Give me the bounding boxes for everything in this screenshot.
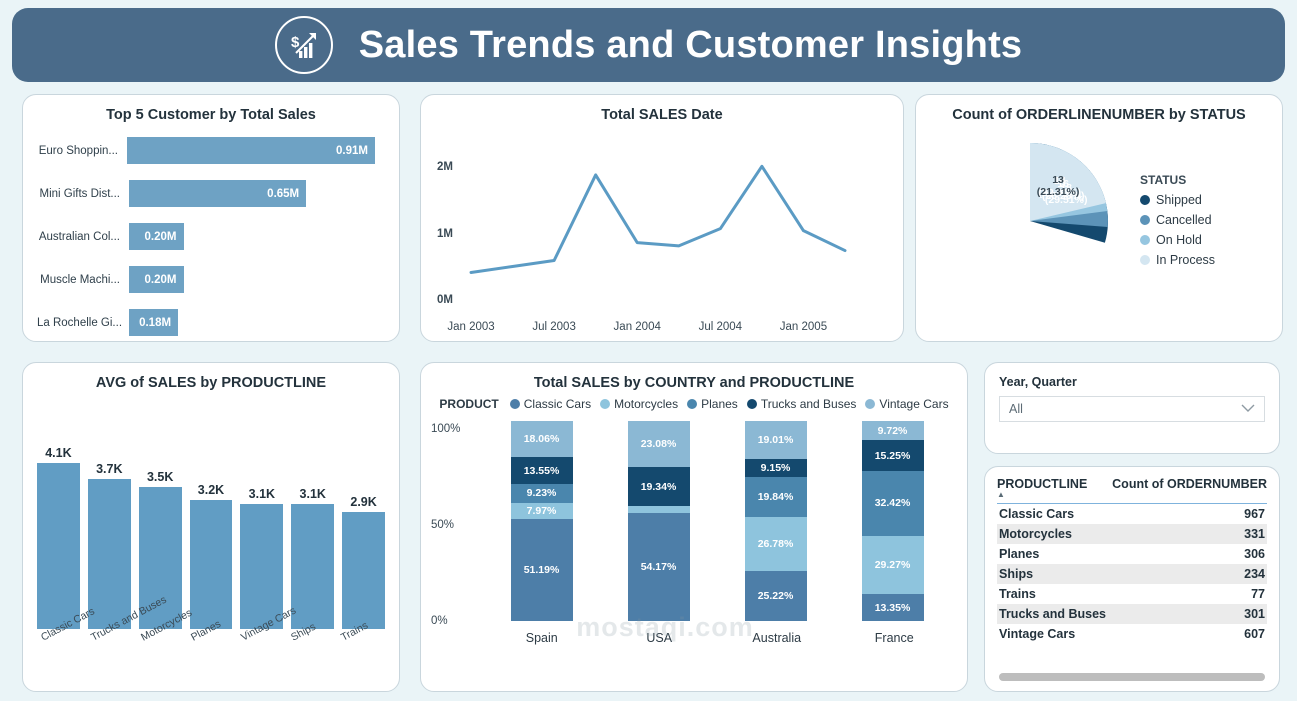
country-stacked-bar[interactable]: 18.06%13.55%9.23%7.97%51.19% [511,421,573,621]
legend-item[interactable]: On Hold [1140,233,1215,247]
table-row[interactable]: Ships234 [997,564,1267,584]
customer-name-label: Australian Col... [37,231,129,243]
svg-text:$: $ [291,34,300,51]
productline-bar-column[interactable]: 3.2K [190,407,233,629]
avg-sales-bar-chart: 4.1K3.7K3.5K3.2K3.1K3.1K2.9K [37,407,385,629]
top-customers-bar-list: Euro Shoppin...0.91MMini Gifts Dist...0.… [23,123,399,336]
pie-slice-label: 13(21.31%) [1037,173,1080,197]
bar-rect[interactable] [88,479,131,629]
table-row[interactable]: Planes306 [997,544,1267,564]
chevron-down-icon[interactable] [1241,400,1255,418]
status-pie-title: Count of ORDERLINENUMBER by STATUS [916,95,1282,123]
y-axis-tick: 100% [431,423,460,435]
country-label: USA [646,631,672,645]
table-row[interactable]: Motorcycles331 [997,524,1267,544]
bar-rect[interactable] [37,463,80,629]
legend-color-dot [687,399,697,409]
country-label: France [875,631,914,645]
stack-segment[interactable]: 25.22% [745,571,807,621]
cell-count: 77 [1251,587,1265,601]
legend-label: Vintage Cars [879,397,948,411]
page-title: Sales Trends and Customer Insights [359,24,1023,67]
legend-color-dot [865,399,875,409]
status-pie-area: 18(29.51%)16(26.23%)14(22.95%)13(21.31%)… [916,123,1282,313]
cell-count: 234 [1244,567,1265,581]
legend-item[interactable]: Motorcycles [600,397,678,411]
productline-table: PRODUCTLINE ▲ Count of ORDERNUMBER Class… [985,467,1279,644]
dashboard-page: $ Sales Trends and Customer Insights Top… [0,0,1297,701]
customer-name-label: Euro Shoppin... [37,145,127,157]
legend-label: Classic Cars [524,397,591,411]
top-customers-card: Top 5 Customer by Total Sales Euro Shopp… [22,94,400,342]
stack-segment[interactable]: 9.15% [745,459,807,477]
cell-productline: Motorcycles [999,527,1072,541]
country-stacked-bar[interactable]: 23.08%19.34%54.17% [628,421,690,621]
productline-table-card: PRODUCTLINE ▲ Count of ORDERNUMBER Class… [984,466,1280,692]
stack-segment[interactable]: 54.17% [628,513,690,621]
bar-rect[interactable] [342,512,385,629]
productline-bar-column[interactable]: 2.9K [342,407,385,629]
customer-bar[interactable]: 0.18M [129,309,178,336]
customer-bar-row[interactable]: Mini Gifts Dist...0.65M [37,180,375,207]
y-axis-tick: 50% [431,519,454,531]
country-stacked-bar[interactable]: 19.01%9.15%19.84%26.78%25.22% [745,421,807,621]
top-customers-title: Top 5 Customer by Total Sales [23,95,399,123]
pie-chart: 18(29.51%)16(26.23%)14(22.95%)13(21.31%) [930,133,1130,313]
x-axis-tick: Jan 2003 [447,321,494,333]
customer-bar[interactable]: 0.20M [129,266,184,293]
legend-item[interactable]: Classic Cars [510,397,591,411]
x-axis-tick: Jul 2004 [699,321,742,333]
column-header-count[interactable]: Count of ORDERNUMBER [1112,477,1267,491]
productline-bar-column[interactable]: 3.1K [291,407,334,629]
avg-sales-category-axis: Classic CarsTrucks and BusesMotorcyclesP… [37,629,385,699]
avg-sales-title: AVG of SALES by PRODUCTLINE [23,363,399,391]
stack-segment[interactable]: 15.25% [862,440,924,471]
cell-count: 331 [1244,527,1265,541]
bar-value-label: 2.9K [350,495,376,509]
legend-color-dot [747,399,757,409]
stack-segment[interactable]: 32.42% [862,471,924,536]
customer-bar[interactable]: 0.20M [129,223,184,250]
bar-value-label: 0.65M [267,188,299,200]
country-label: Spain [526,631,558,645]
cell-count: 301 [1244,607,1265,621]
legend-label: On Hold [1156,233,1202,247]
legend-color-dot [1140,195,1150,205]
bar-track: 0.18M [129,309,375,336]
cell-productline: Classic Cars [999,507,1074,521]
status-legend: STATUS ShippedCancelledOn HoldIn Process [1140,173,1215,273]
stack-segment[interactable]: 19.01% [745,421,807,459]
stack-segment[interactable]: 29.27% [862,536,924,595]
table-row[interactable]: Classic Cars967 [997,504,1267,524]
year-quarter-slicer-card: Year, Quarter All [984,362,1280,454]
stack-segment[interactable]: 19.84% [745,477,807,517]
bar-value-label: 3.1K [300,487,326,501]
stack-segment[interactable]: 23.08% [628,421,690,467]
legend-item[interactable]: Planes [687,397,738,411]
legend-label: Shipped [1156,193,1202,207]
country-stacked-bar[interactable]: 9.72%15.25%32.42%29.27%13.35% [862,421,924,621]
cell-count: 306 [1244,547,1265,561]
bar-value-label: 0.20M [145,231,177,243]
table-horizontal-scrollbar[interactable] [999,673,1265,681]
bar-value-label: 3.5K [147,470,173,484]
table-header-row: PRODUCTLINE ▲ Count of ORDERNUMBER [997,477,1267,498]
country-productline-stacked-chart: 0%50%100%18.06%13.55%9.23%7.97%51.19%23.… [431,421,957,649]
legend-label: In Process [1156,253,1215,267]
stack-segment[interactable]: 13.55% [511,457,573,484]
stack-segment[interactable]: 19.34% [628,467,690,506]
country-productline-title: Total SALES by COUNTRY and PRODUCTLINE [421,363,967,391]
customer-bar-row[interactable]: La Rochelle Gi...0.18M [37,309,375,336]
bar-rect[interactable] [291,504,334,629]
productline-bar-column[interactable]: 4.1K [37,407,80,629]
dashboard-header: $ Sales Trends and Customer Insights [12,8,1285,82]
legend-label: Planes [701,397,738,411]
bar-value-label: 4.1K [45,446,71,460]
customer-bar[interactable]: 0.91M [127,137,375,164]
customer-bar-row[interactable]: Australian Col...0.20M [37,223,375,250]
productline-bar-column[interactable]: 3.1K [240,407,283,629]
bar-value-label: 3.1K [249,487,275,501]
stack-segment[interactable]: 9.72% [862,421,924,440]
country-label: Australia [752,631,801,645]
customer-name-label: La Rochelle Gi... [37,317,129,329]
stack-segment[interactable] [628,506,690,513]
legend-color-dot [510,399,520,409]
cell-productline: Trucks and Buses [999,607,1106,621]
cell-count: 607 [1244,627,1265,641]
cell-count: 967 [1244,507,1265,521]
legend-label: Trucks and Buses [761,397,857,411]
bar-rect[interactable] [190,500,233,629]
year-quarter-dropdown[interactable]: All [999,396,1265,422]
sales-date-title: Total SALES Date [421,95,903,123]
bar-value-label: 0.20M [145,274,177,286]
slicer-label: Year, Quarter [985,363,1279,396]
table-row[interactable]: Vintage Cars607 [997,624,1267,644]
legend-item[interactable]: In Process [1140,253,1215,267]
country-productline-card: Total SALES by COUNTRY and PRODUCTLINE P… [420,362,968,692]
legend-item[interactable]: Vintage Cars [865,397,948,411]
table-row[interactable]: Trains77 [997,584,1267,604]
legend-color-dot [1140,215,1150,225]
legend-label: Motorcycles [614,397,678,411]
customer-bar[interactable]: 0.65M [129,180,306,207]
x-axis-tick: Jan 2004 [614,321,661,333]
status-pie-card: Count of ORDERLINENUMBER by STATUS 18(29… [915,94,1283,342]
slicer-selected-value: All [1009,402,1023,416]
x-axis-tick: Jul 2003 [532,321,575,333]
bar-value-label: 0.91M [336,145,368,157]
bar-track: 0.20M [129,223,375,250]
customer-name-label: Muscle Machi... [37,274,129,286]
customer-bar-row[interactable]: Euro Shoppin...0.91M [37,137,375,164]
legend-color-dot [1140,235,1150,245]
sales-date-line-chart: 0M1M2MJan 2003Jul 2003Jan 2004Jul 2004Ja… [431,139,893,335]
sales-trend-line [431,139,855,335]
x-axis-tick: Jan 2005 [780,321,827,333]
legend-item[interactable]: Trucks and Buses [747,397,857,411]
legend-item[interactable]: Shipped [1140,193,1215,207]
country-productline-legend: PRODUCTClassic CarsMotorcyclesPlanesTruc… [421,397,967,411]
bar-value-label: 0.18M [139,317,171,329]
cell-productline: Trains [999,587,1036,601]
legend-color-dot [600,399,610,409]
bar-track: 0.20M [129,266,375,293]
productline-bar-column[interactable]: 3.7K [88,407,131,629]
legend-item[interactable]: Cancelled [1140,213,1215,227]
cell-productline: Ships [999,567,1033,581]
column-header-productline[interactable]: PRODUCTLINE ▲ [997,477,1087,498]
bar-track: 0.65M [129,180,375,207]
stack-segment[interactable]: 51.19% [511,519,573,621]
legend-color-dot [1140,255,1150,265]
sort-ascending-icon[interactable]: ▲ [997,492,1087,498]
customer-name-label: Mini Gifts Dist... [37,188,129,200]
legend-title: PRODUCT [439,397,498,411]
status-legend-title: STATUS [1140,173,1215,187]
customer-bar-row[interactable]: Muscle Machi...0.20M [37,266,375,293]
stack-segment[interactable]: 13.35% [862,594,924,621]
bar-track: 0.91M [127,137,375,164]
cell-productline: Planes [999,547,1039,561]
avg-sales-card: AVG of SALES by PRODUCTLINE 4.1K3.7K3.5K… [22,362,400,692]
y-axis-tick: 0% [431,615,448,627]
sales-date-card: Total SALES Date 0M1M2MJan 2003Jul 2003J… [420,94,904,342]
cell-productline: Vintage Cars [999,627,1075,641]
status-pie-svg [930,133,1130,313]
stack-segment[interactable]: 18.06% [511,421,573,457]
stacked-columns: 18.06%13.55%9.23%7.97%51.19%23.08%19.34%… [483,421,951,621]
stack-segment[interactable]: 9.23% [511,484,573,502]
bar-value-label: 3.7K [96,462,122,476]
sales-growth-icon: $ [275,16,333,74]
legend-label: Cancelled [1156,213,1212,227]
bar-value-label: 3.2K [198,483,224,497]
stack-segment[interactable]: 26.78% [745,517,807,571]
table-row[interactable]: Trucks and Buses301 [997,604,1267,624]
stack-segment[interactable]: 7.97% [511,503,573,519]
bar-rect[interactable] [240,504,283,629]
